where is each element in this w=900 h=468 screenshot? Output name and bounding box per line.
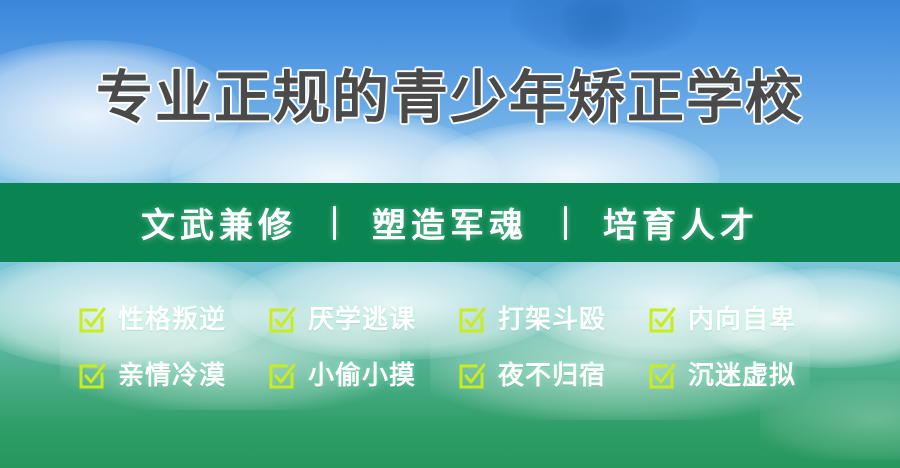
checkbox-checked-icon xyxy=(268,307,295,334)
tag-item: 性格叛逆 xyxy=(70,306,260,334)
tag-label: 夜不归宿 xyxy=(498,362,606,390)
tag-item: 内向自卑 xyxy=(640,306,830,334)
tag-label: 内向自卑 xyxy=(688,306,796,334)
tag-label: 性格叛逆 xyxy=(118,306,226,334)
tag-label: 亲情冷漠 xyxy=(118,362,226,390)
tag-label: 小偷小摸 xyxy=(308,362,416,390)
checkbox-checked-icon xyxy=(268,363,295,390)
checkbox-checked-icon xyxy=(78,307,105,334)
checkbox-checked-icon xyxy=(458,363,485,390)
tag-item: 小偷小摸 xyxy=(260,362,450,390)
slogan-separator-2 xyxy=(564,206,567,240)
promo-banner: 专业正规的青少年矫正学校 文武兼修 塑造军魂 培育人才 性格叛逆 xyxy=(0,0,900,468)
checkbox-checked-icon xyxy=(648,307,675,334)
slogan-item-1: 文武兼修 xyxy=(141,198,297,247)
checkbox-checked-icon xyxy=(78,363,105,390)
tag-item: 亲情冷漠 xyxy=(70,362,260,390)
tag-label: 打架斗殴 xyxy=(498,306,606,334)
tag-label: 厌学逃课 xyxy=(308,306,416,334)
slogan-item-2: 塑造军魂 xyxy=(372,198,528,247)
tag-item: 夜不归宿 xyxy=(450,362,640,390)
checkbox-checked-icon xyxy=(458,307,485,334)
tag-list: 性格叛逆 厌学逃课 打架斗殴 xyxy=(0,292,900,404)
tag-row: 亲情冷漠 小偷小摸 夜不归宿 xyxy=(0,348,900,404)
tag-item: 沉迷虚拟 xyxy=(640,362,830,390)
tag-row: 性格叛逆 厌学逃课 打架斗殴 xyxy=(0,292,900,348)
slogan-item-3: 培育人才 xyxy=(603,198,759,247)
checkbox-checked-icon xyxy=(648,363,675,390)
page-title: 专业正规的青少年矫正学校 xyxy=(0,66,900,130)
slogan-separator-1 xyxy=(333,206,336,240)
tag-label: 沉迷虚拟 xyxy=(688,362,796,390)
tag-item: 打架斗殴 xyxy=(450,306,640,334)
tag-item: 厌学逃课 xyxy=(260,306,450,334)
slogan-band: 文武兼修 塑造军魂 培育人才 xyxy=(0,183,900,262)
